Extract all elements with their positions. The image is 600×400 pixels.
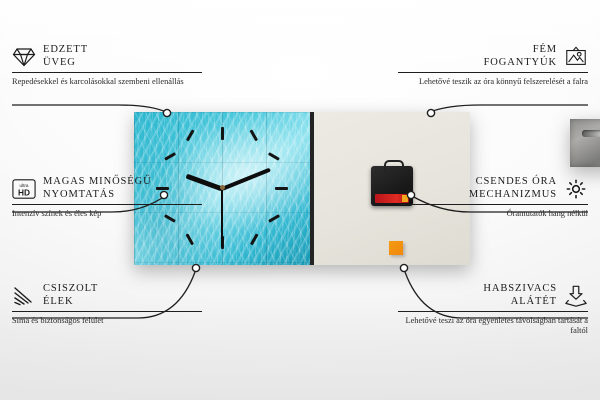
polished-edges-icon: [12, 284, 36, 308]
callout-divider: [398, 311, 588, 312]
callout-polished-edges: CSISZOLT ÉLEK Sima és biztonságos felüle…: [12, 283, 202, 326]
callout-subtitle: Repedésekkel és karcolásokkal szembeni e…: [12, 77, 202, 88]
callout-title-line2: ÜVEG: [43, 57, 88, 70]
callout-title-line1: CSENDES ÓRA: [469, 176, 557, 189]
callout-subtitle: Lehetővé teszik az óra könnyű felszerelé…: [398, 77, 588, 88]
connector-dot-polished-edges: [192, 264, 199, 271]
clock-tick: [221, 127, 224, 140]
callout-divider: [12, 72, 202, 73]
callout-title-line1: FÉM: [484, 44, 557, 57]
callout-divider: [12, 311, 202, 312]
connector-dot-foam-pad: [400, 264, 407, 271]
foam-pad-arrow-icon: [564, 284, 588, 308]
callout-metal-handles: FÉM FOGANTYÚK Lehetővé teszik az óra kön…: [398, 44, 588, 87]
connector-metal-handles: [430, 105, 588, 112]
mechanism-hook: [384, 160, 404, 171]
clock-center-cap: [220, 185, 225, 190]
callout-hd-print: ultra HD MAGAS MINŐSÉGŰ NYOMTATÁS Intenz…: [12, 176, 202, 219]
clock-hand-second: [221, 189, 223, 247]
callout-silent-mechanism: CSENDES ÓRA MECHANIZMUS Óramutatók hang …: [398, 176, 588, 219]
callout-tempered-glass: EDZETT ÜVEG Repedésekkel és karcolásokka…: [12, 44, 202, 87]
svg-text:HD: HD: [18, 187, 30, 197]
connector-tempered-glass: [12, 105, 166, 112]
callout-subtitle: Intenzív színek és éles kép: [12, 209, 202, 220]
callout-divider: [12, 204, 202, 205]
callout-title-line2: MECHANIZMUS: [469, 189, 557, 202]
callout-title-line1: MAGAS MINŐSÉGŰ: [43, 176, 152, 189]
callout-title-line2: NYOMTATÁS: [43, 189, 152, 202]
clock-tick: [275, 187, 288, 190]
diamond-icon: [12, 45, 36, 69]
callout-title-line1: CSISZOLT: [43, 283, 98, 296]
callout-foam-pad: HABSZIVACS ALÁTÉT Lehetővé teszi az óra …: [398, 283, 588, 337]
callout-title-line1: EDZETT: [43, 44, 88, 57]
callout-title-line1: HABSZIVACS: [483, 283, 557, 296]
metal-hanger-plate: [570, 119, 600, 167]
picture-hanger-icon: [564, 45, 588, 69]
callout-divider: [398, 72, 588, 73]
callout-title-line2: ÉLEK: [43, 296, 98, 309]
callout-subtitle: Sima és biztonságos felület: [12, 316, 202, 327]
callout-title-line2: ALÁTÉT: [483, 296, 557, 309]
ultra-hd-badge-icon: ultra HD: [12, 177, 36, 201]
hanger-slot: [582, 130, 600, 137]
callout-title-line2: FOGANTYÚK: [484, 57, 557, 70]
foam-spacer-pad: [389, 241, 403, 255]
gear-icon: [564, 177, 588, 201]
callout-subtitle: Lehetővé teszi az óra egyenletes távolsá…: [398, 316, 588, 337]
callout-divider: [398, 204, 588, 205]
callout-subtitle: Óramutatók hang nélkül: [398, 209, 588, 220]
